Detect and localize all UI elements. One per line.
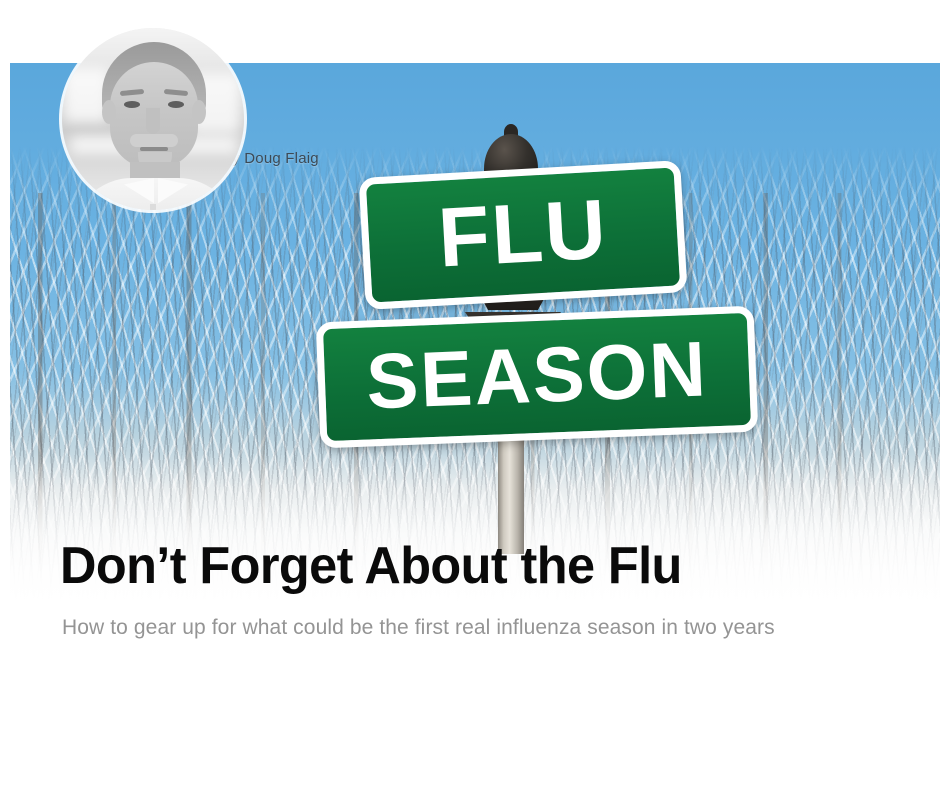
avatar-shirt-placket <box>150 204 156 210</box>
street-sign-flu: FLU <box>359 160 688 310</box>
avatar <box>62 28 244 210</box>
avatar-eye-left <box>124 101 140 108</box>
footer-bar: Clean Facilities with Green Solutions Fi… <box>0 655 940 788</box>
article-subtitle: How to gear up for what could be the fir… <box>62 616 775 640</box>
page-title: Don’t Forget About the Flu <box>60 536 682 596</box>
street-sign-season-label: SEASON <box>365 329 709 420</box>
street-sign-season: SEASON <box>316 306 759 449</box>
street-sign-flu-label: FLU <box>436 186 610 279</box>
flu-season-article-card: FLU SEASON By Doug Flaig Don’t Forget Ab… <box>0 0 940 788</box>
avatar-mouth <box>140 147 168 151</box>
avatar-mustache <box>130 134 178 147</box>
avatar-ear-right <box>192 100 206 124</box>
avatar-nose <box>146 108 160 134</box>
avatar-eye-right <box>168 101 184 108</box>
avatar-ear-left <box>102 100 116 124</box>
